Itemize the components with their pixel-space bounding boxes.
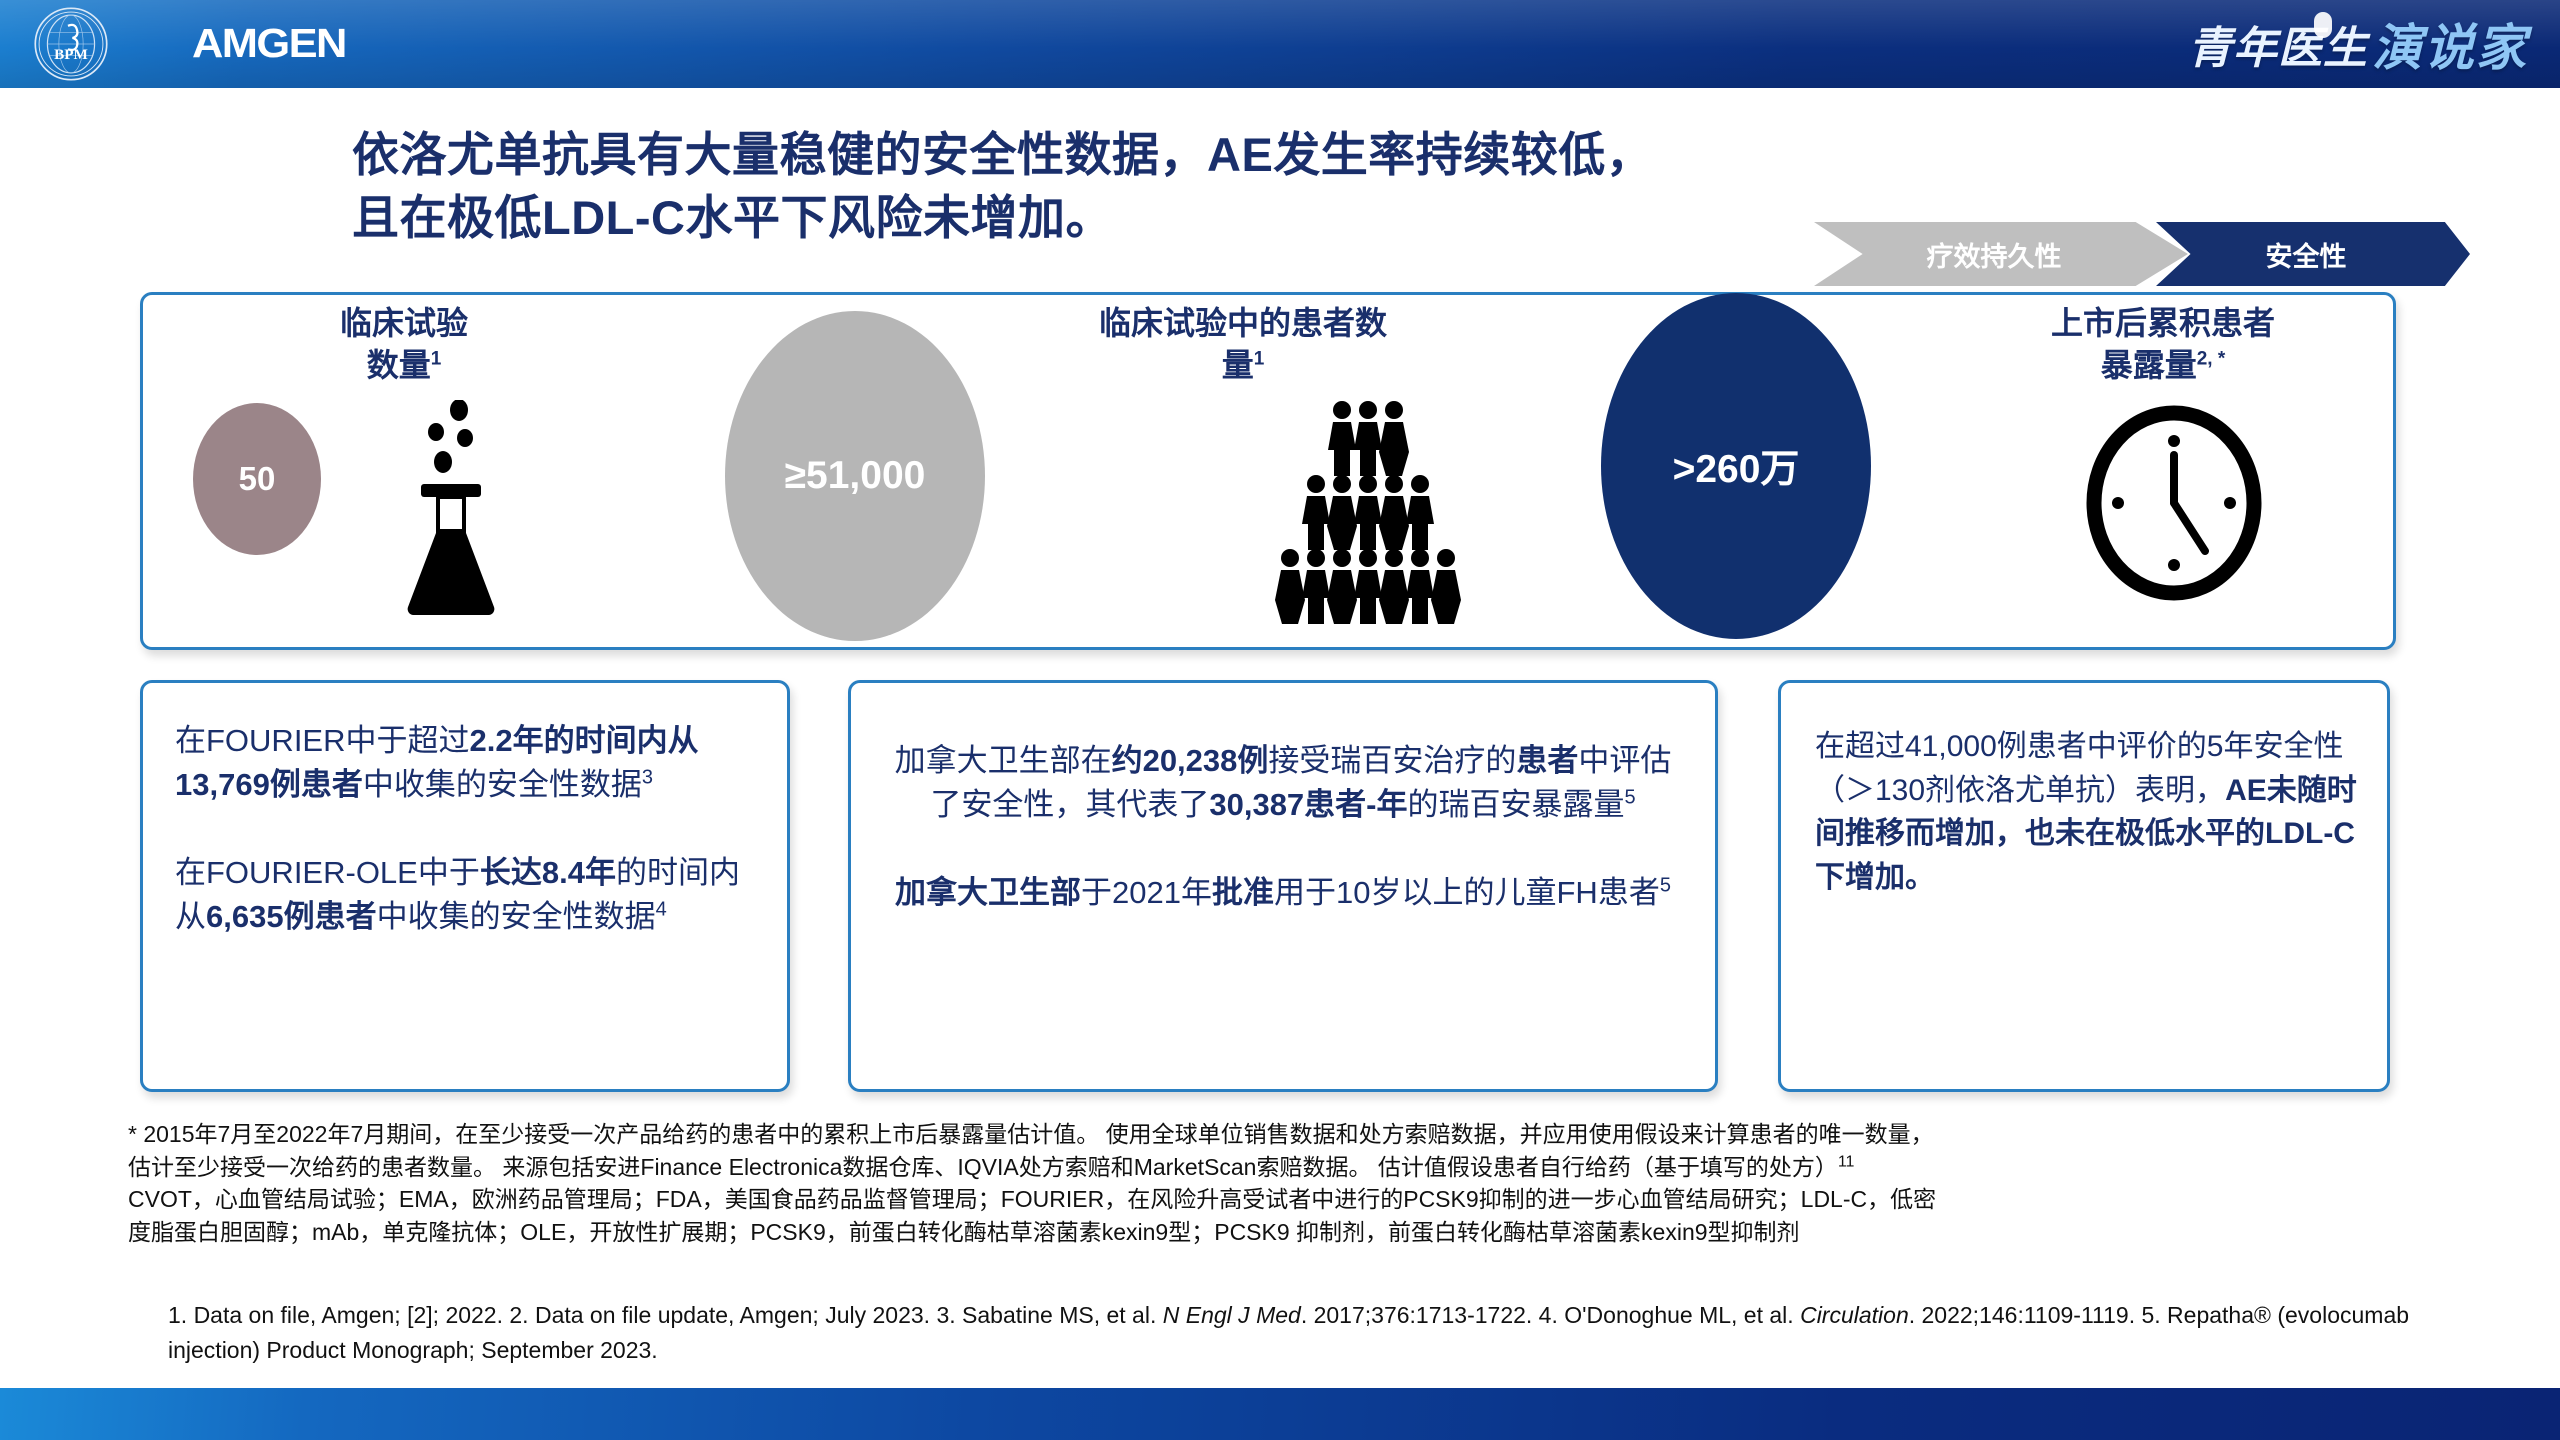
references-part-2: . 2017;376:1713-1722. 4. O'Donoghue ML, … — [1301, 1302, 1800, 1328]
stat-value-patients-trials: ≥51,000 — [725, 311, 985, 641]
stat-label-trials-sup: 1 — [431, 348, 442, 369]
stat-label-postmarket: 上市后累积患者 暴露量2, * — [1943, 303, 2383, 386]
bpm-seal-logo-icon: BPM — [33, 6, 109, 82]
info-box-fourier-paragraph-1: 在FOURIER中于超过2.2年的时间内从13,769例患者中收集的安全性数据3 — [175, 719, 761, 807]
people-group-icon — [1253, 400, 1483, 625]
references-part-1: 1. Data on file, Amgen; [2]; 2022. 2. Da… — [168, 1302, 1163, 1328]
references-block: 1. Data on file, Amgen; [2]; 2022. 2. Da… — [168, 1298, 2428, 1367]
references-journal-2: Circulation — [1800, 1302, 1909, 1328]
stat-label-postmarket-line1: 上市后累积患者 — [2051, 305, 2275, 341]
stat-value-trials: 50 — [193, 403, 321, 555]
stat-label-trials-line1: 临床试验 — [340, 305, 468, 341]
footnotes-block: * 2015年7月至2022年7月期间，在至少接受一次产品给药的患者中的累积上市… — [128, 1118, 2448, 1249]
footnote-line-2: 估计至少接受一次给药的患者数量。 来源包括安进Finance Electroni… — [128, 1151, 2448, 1184]
footnote-line-2-text: 估计至少接受一次给药的患者数量。 来源包括安进Finance Electroni… — [128, 1154, 1838, 1180]
info-box-five-year-safety: 在超过41,000例患者中评价的5年安全性（＞130剂依洛尤单抗）表明，AE未随… — [1778, 680, 2390, 1092]
stat-label-patients-line1: 临床试验中的患者数 — [1099, 305, 1387, 341]
stat-value-postmarket: >260万 — [1601, 293, 1871, 639]
stat-label-trials-line2: 数量 — [367, 347, 431, 383]
paragraph-spacer — [175, 807, 761, 851]
key-stats-panel: 50 临床试验 数量1 ≥51,000 临床试验中的患者数 量1 — [140, 292, 2396, 650]
footnote-line-1: * 2015年7月至2022年7月期间，在至少接受一次产品给药的患者中的累积上市… — [128, 1118, 2448, 1151]
stat-label-patients-sup: 1 — [1254, 348, 1265, 369]
stat-label-patients-line2: 量 — [1222, 347, 1254, 383]
slide-title: 依洛尤单抗具有大量稳健的安全性数据，AE发生率持续较低， 且在极低LDL-C水平… — [352, 124, 1912, 249]
section-chevron-nav: 疗效持久性 安全性 — [1814, 222, 2470, 286]
footnote-line-4: 度脂蛋白胆固醇；mAb，单克隆抗体；OLE，开放性扩展期；PCSK9，前蛋白转化… — [128, 1216, 2448, 1249]
stat-label-postmarket-sup: 2, * — [2197, 348, 2226, 369]
info-box-health-canada-paragraph-2: 加拿大卫生部于2021年批准用于10岁以上的儿童FH患者5 — [881, 871, 1685, 915]
stat-label-trials: 临床试验 数量1 — [269, 303, 539, 386]
brand-text-part1: 青年医生 — [2188, 12, 2368, 76]
info-box-five-year-safety-paragraph-1: 在超过41,000例患者中评价的5年安全性（＞130剂依洛尤单抗）表明，AE未随… — [1815, 725, 2357, 899]
microphone-icon — [2314, 12, 2332, 38]
chevron-tab-safety[interactable]: 安全性 — [2156, 222, 2470, 286]
brand-text-part2: 演说家 — [2372, 8, 2528, 80]
program-brand-logo: 青年医生 演说家 — [2188, 8, 2528, 80]
stat-label-patients-trials: 临床试验中的患者数 量1 — [953, 303, 1533, 386]
svg-text:BPM: BPM — [54, 46, 88, 63]
page-header: BPM AMGEN 青年医生 演说家 — [0, 0, 2560, 88]
amgen-wordmark: AMGEN — [192, 20, 346, 67]
header-gloss-overlay — [0, 0, 2560, 88]
paragraph-spacer — [881, 827, 1685, 871]
info-box-health-canada-paragraph-1: 加拿大卫生部在约20,238例接受瑞百安治疗的患者中评估了安全性，其代表了30,… — [881, 739, 1685, 827]
slide-title-line1: 依洛尤单抗具有大量稳健的安全性数据，AE发生率持续较低， — [352, 124, 1912, 187]
chevron-tab-durability[interactable]: 疗效持久性 — [1814, 222, 2188, 286]
footnote-line-3: CVOT，心血管结局试验；EMA，欧洲药品管理局；FDA，美国食品药品监督管理局… — [128, 1183, 2448, 1216]
stat-label-postmarket-line2: 暴露量 — [2101, 347, 2197, 383]
references-journal-1: N Engl J Med — [1163, 1302, 1301, 1328]
info-box-fourier-paragraph-2: 在FOURIER-OLE中于长达8.4年的时间内从6,635例患者中收集的安全性… — [175, 851, 761, 939]
clock-icon — [2085, 405, 2263, 601]
slide-title-line2: 且在极低LDL-C水平下风险未增加。 — [352, 187, 1912, 250]
flask-icon — [381, 400, 521, 615]
info-box-health-canada: 加拿大卫生部在约20,238例接受瑞百安治疗的患者中评估了安全性，其代表了30,… — [848, 680, 1718, 1092]
footnote-line-2-sup: 11 — [1838, 1153, 1855, 1170]
page-footer-bar — [0, 1388, 2560, 1440]
info-box-fourier: 在FOURIER中于超过2.2年的时间内从13,769例患者中收集的安全性数据3… — [140, 680, 790, 1092]
